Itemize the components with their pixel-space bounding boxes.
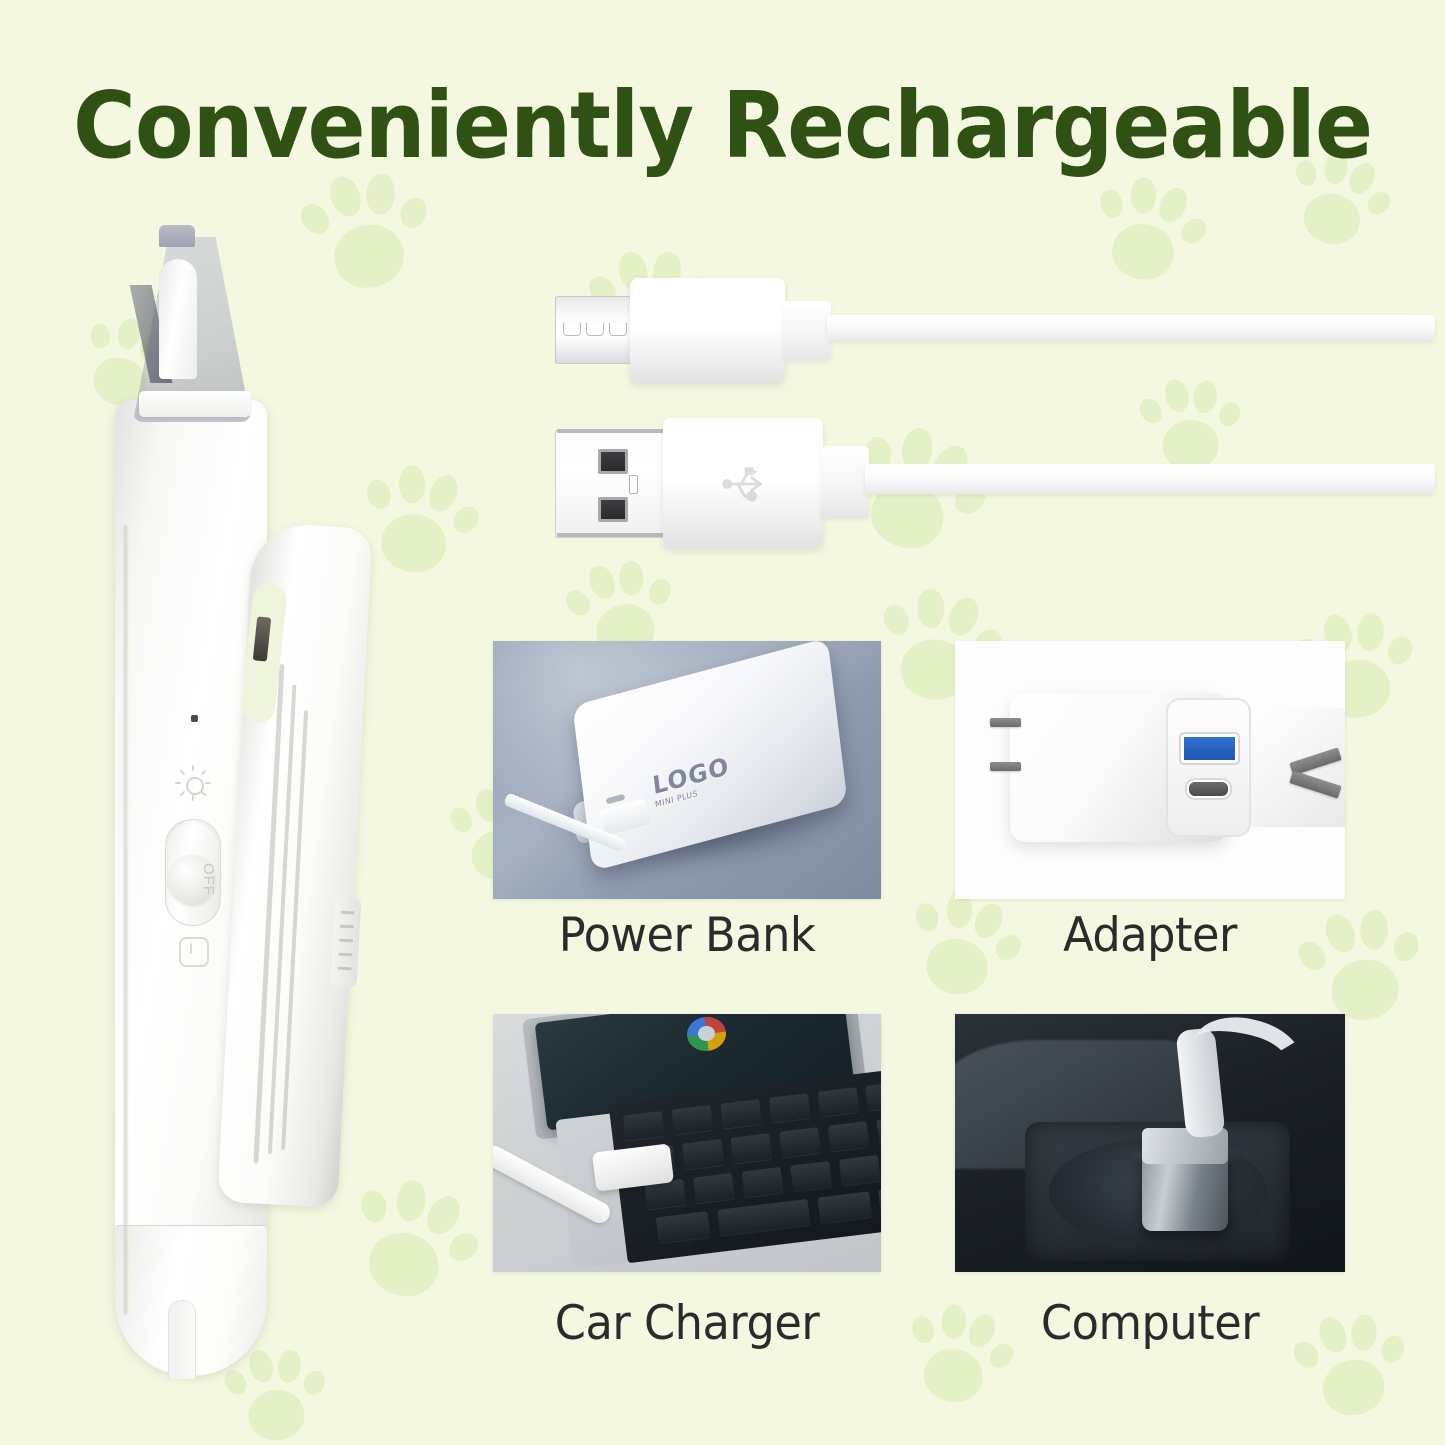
micro-usb-housing bbox=[630, 278, 785, 383]
tile-computer bbox=[955, 1014, 1345, 1272]
laptop-photo bbox=[493, 1014, 881, 1272]
adapter-usb-a-port bbox=[1181, 734, 1238, 763]
tile-label-power-bank: Power Bank bbox=[503, 908, 872, 963]
usb-a-contact bbox=[598, 497, 628, 522]
tile-label-car-charger: Car Charger bbox=[503, 1296, 872, 1351]
tile-power-bank: LOGO MINI PLUS bbox=[493, 641, 881, 899]
adapter-us-prong bbox=[990, 762, 1021, 771]
usb-cable-group bbox=[555, 268, 1435, 568]
adapter-us-prong bbox=[990, 718, 1021, 727]
micro-usb-wire bbox=[827, 315, 1435, 341]
micro-usb-notch bbox=[609, 323, 627, 336]
power-bank-photo: LOGO MINI PLUS bbox=[493, 641, 881, 899]
product-infographic: Conveniently Rechargeable bbox=[0, 0, 1445, 1445]
clipper-head-collar bbox=[139, 391, 251, 417]
adapter-photo bbox=[955, 641, 1345, 899]
tile-car-charger bbox=[493, 1014, 881, 1272]
tile-label-computer: Computer bbox=[965, 1296, 1336, 1351]
tile-label-adapter: Adapter bbox=[965, 908, 1336, 963]
adapter-port-face bbox=[1166, 698, 1252, 837]
page-title: Conveniently Rechargeable bbox=[51, 78, 1395, 175]
usb-a-edge bbox=[557, 429, 665, 433]
micro-usb-notch bbox=[586, 323, 604, 336]
usb-trident-logo bbox=[715, 456, 771, 512]
switch-off-label: OFF bbox=[200, 863, 217, 896]
usb-a-slot bbox=[629, 475, 638, 494]
tile-adapter bbox=[955, 641, 1345, 899]
usb-a-contact bbox=[598, 449, 628, 474]
micro-usb-cable bbox=[555, 268, 1435, 398]
clipper-grip-tab bbox=[331, 896, 362, 987]
light-icon bbox=[175, 765, 211, 801]
clipper-head-tip bbox=[159, 225, 195, 247]
micro-usb-strain-relief bbox=[783, 301, 831, 361]
product-image-nail-clipper: OFF bbox=[95, 225, 445, 1375]
car-interior-photo bbox=[955, 1014, 1345, 1272]
power-icon bbox=[179, 937, 209, 967]
usb-a-cable bbox=[555, 418, 1435, 548]
clipper-nail-guard bbox=[159, 259, 197, 379]
clipper-body-ridge bbox=[122, 525, 129, 1315]
usb-a-wire bbox=[865, 464, 1435, 494]
led-indicator-icon bbox=[191, 715, 198, 722]
usb-a-strain-relief bbox=[821, 446, 869, 518]
clipper-bottom-slot bbox=[168, 1300, 196, 1379]
micro-usb-notch bbox=[563, 323, 581, 336]
adapter-usb-c-port bbox=[1187, 780, 1230, 797]
usb-a-edge bbox=[557, 533, 665, 537]
